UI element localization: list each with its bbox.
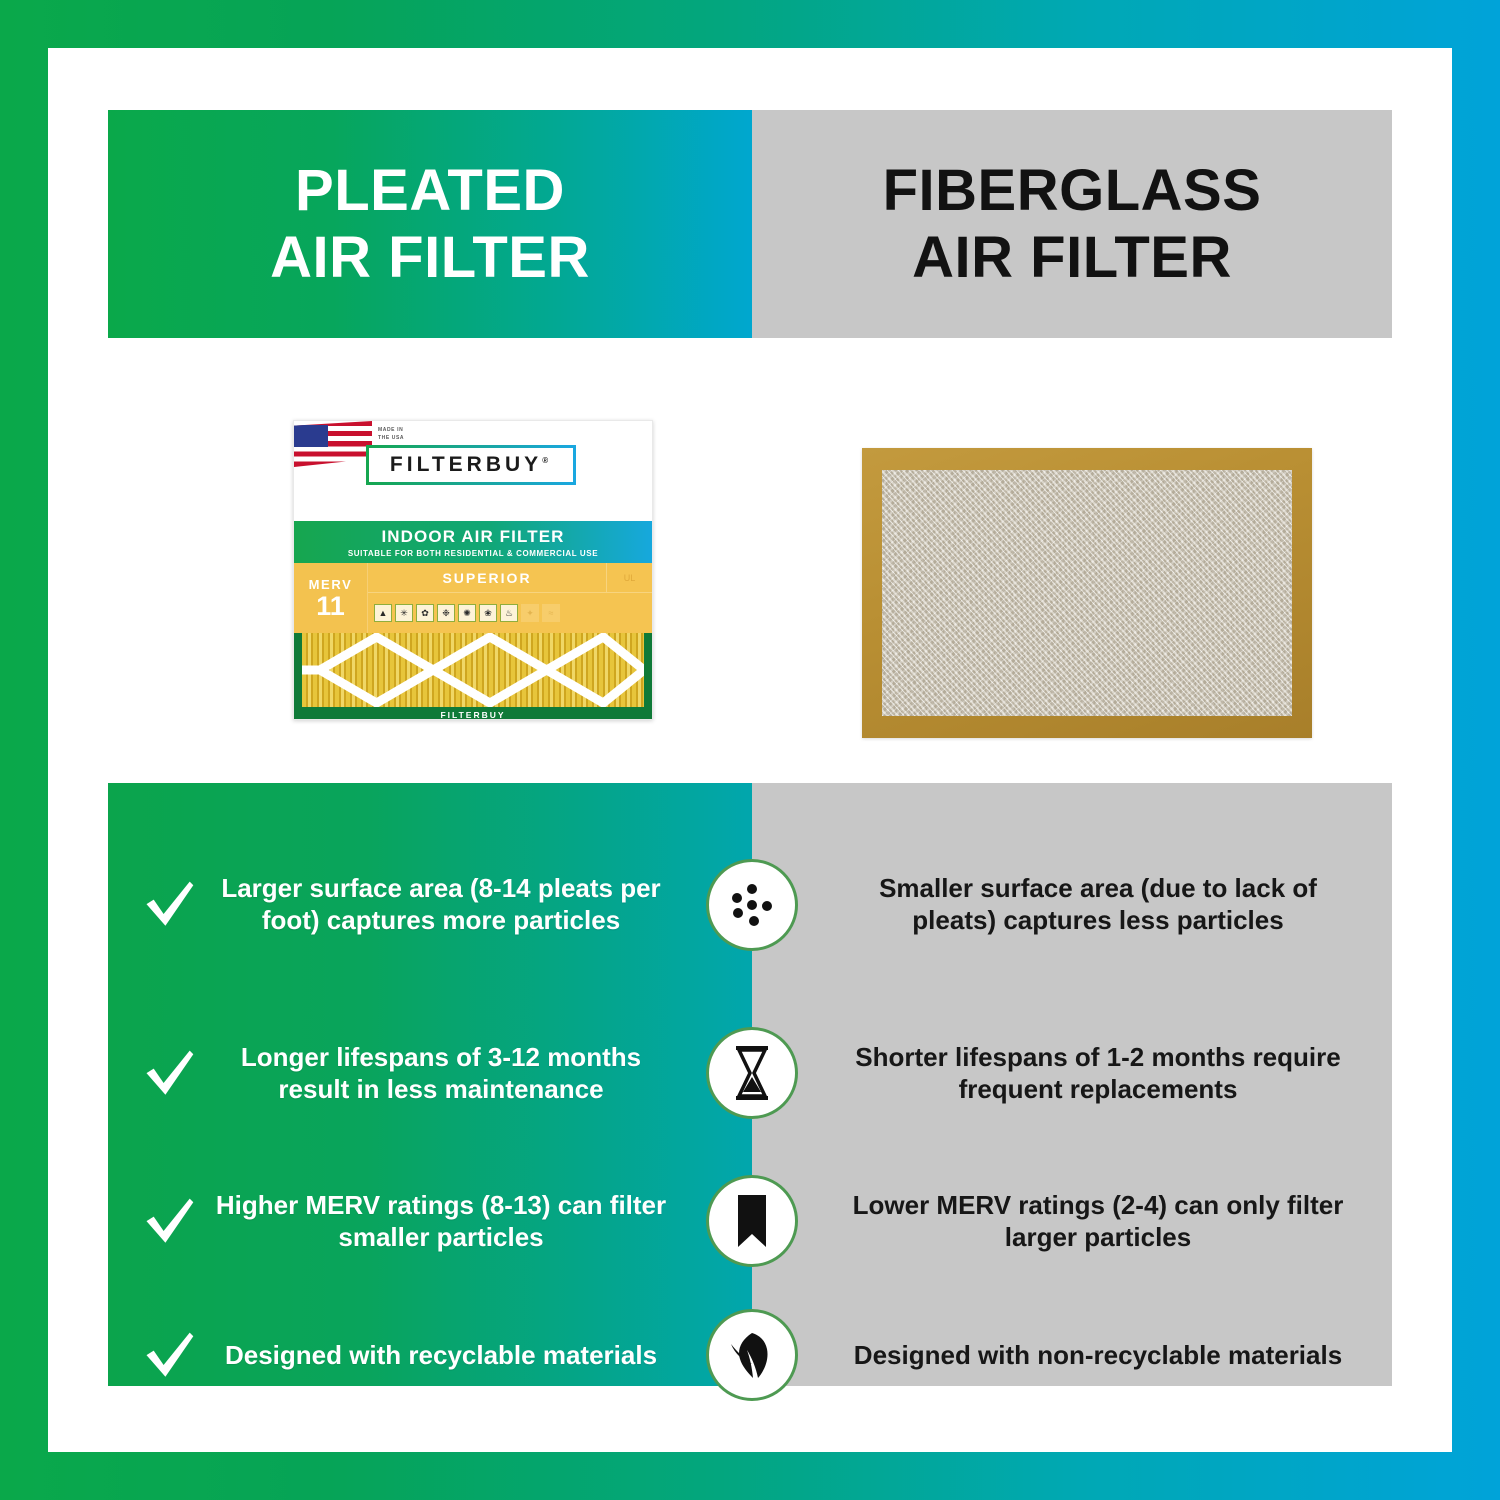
row-1-right-text: Smaller surface area (due to lack of ple…: [844, 873, 1352, 936]
pleated-media-artwork: FILTERBUY: [294, 633, 652, 720]
row-4-right-text: Designed with non-recyclable materials: [844, 1340, 1352, 1372]
usa-flag-icon: [294, 421, 372, 467]
filterbuy-logo-text: FILTERBUY®: [390, 453, 552, 477]
row-4-right: Designed with non-recyclable materials: [752, 1293, 1392, 1418]
row-1-left: Larger surface area (8-14 pleats per foo…: [108, 825, 752, 985]
smoke-icon: ♨: [500, 604, 518, 622]
odor-icon-faded: ≈: [542, 604, 560, 622]
mold-spore-icon: ❉: [437, 604, 455, 622]
box-tier-section: SUPERIOR UL ▲ ✳ ✿ ❉ ✺ ❀ ♨: [368, 563, 652, 633]
merv-badge: MERV 11: [294, 563, 368, 633]
bacteria-icon: ✺: [458, 604, 476, 622]
row-4-left: Designed with recyclable materials: [108, 1293, 752, 1418]
checkmark-icon: [140, 1195, 198, 1249]
particles-icon: [706, 859, 798, 951]
insect-icon: ✳: [395, 604, 413, 622]
dust-icon: ▲: [374, 604, 392, 622]
hourglass-icon: [706, 1027, 798, 1119]
white-diamond-lattice: [302, 633, 644, 707]
row-1-left-text: Larger surface area (8-14 pleats per foo…: [204, 873, 678, 936]
row-3-right-text: Lower MERV ratings (2-4) can only filter…: [844, 1190, 1352, 1253]
checkmark-icon: [140, 1329, 198, 1383]
pleated-filter-box-image: MADE IN THE USA FILTERBUY® INDOOR AIR FI…: [293, 420, 653, 720]
checkmark-icon: [140, 878, 198, 932]
merv-value: 11: [316, 593, 345, 620]
row-2-left: Longer lifespans of 3-12 months result i…: [108, 1011, 752, 1136]
product-image-row: MADE IN THE USA FILTERBUY® INDOOR AIR FI…: [108, 338, 1392, 778]
fiberglass-product-cell: [750, 338, 1392, 778]
row-1-right: Smaller surface area (due to lack of ple…: [752, 825, 1392, 985]
merv-label: MERV: [309, 577, 353, 592]
tier-label: SUPERIOR: [368, 563, 606, 592]
box-band-subtitle: SUITABLE FOR BOTH RESIDENTIAL & COMMERCI…: [348, 549, 598, 558]
checkmark-icon: [140, 1047, 198, 1101]
pleated-product-cell: MADE IN THE USA FILTERBUY® INDOOR AIR FI…: [108, 338, 750, 778]
box-product-band: INDOOR AIR FILTER SUITABLE FOR BOTH RESI…: [294, 521, 652, 563]
row-2-right-text: Shorter lifespans of 1-2 months require …: [844, 1042, 1352, 1105]
row-2-right: Shorter lifespans of 1-2 months require …: [752, 1011, 1392, 1136]
ul-certification-icon: UL: [606, 563, 652, 592]
row-3-right: Lower MERV ratings (2-4) can only filter…: [752, 1159, 1392, 1284]
row-3-left: Higher MERV ratings (8-13) can filter sm…: [108, 1159, 752, 1284]
infographic-sheet: PLEATED AIR FILTER FIBERGLASS AIR FILTER…: [48, 48, 1452, 1452]
feature-icon-strip: ▲ ✳ ✿ ❉ ✺ ❀ ♨ ✦ ≈: [368, 593, 652, 633]
made-in-usa-label: MADE IN THE USA: [378, 427, 404, 442]
box-band-title: INDOOR AIR FILTER: [381, 527, 564, 547]
header-band: PLEATED AIR FILTER FIBERGLASS AIR FILTER: [108, 110, 1392, 338]
fiberglass-filter-image: [862, 448, 1312, 738]
comparison-rows: Larger surface area (8-14 pleats per foo…: [108, 783, 1392, 1386]
leaf-icon: [706, 1309, 798, 1401]
header-pleated: PLEATED AIR FILTER: [108, 110, 752, 338]
gradient-border-frame: PLEATED AIR FILTER FIBERGLASS AIR FILTER…: [0, 0, 1500, 1500]
row-3-left-text: Higher MERV ratings (8-13) can filter sm…: [204, 1190, 678, 1253]
bookmark-icon: [706, 1175, 798, 1267]
box-top-section: MADE IN THE USA FILTERBUY®: [294, 421, 652, 521]
row-2-left-text: Longer lifespans of 3-12 months result i…: [204, 1042, 678, 1105]
virus-icon-faded: ✦: [521, 604, 539, 622]
box-merv-section: MERV 11 SUPERIOR UL ▲ ✳ ✿: [294, 563, 652, 633]
header-fiberglass-title: FIBERGLASS AIR FILTER: [883, 157, 1262, 292]
tier-row: SUPERIOR UL: [368, 563, 652, 593]
filterbuy-logo: FILTERBUY®: [366, 445, 576, 485]
pollen-icon: ✿: [416, 604, 434, 622]
pet-dander-icon: ❀: [479, 604, 497, 622]
header-pleated-title: PLEATED AIR FILTER: [270, 157, 590, 292]
header-fiberglass: FIBERGLASS AIR FILTER: [752, 110, 1392, 338]
box-bottom-brand: FILTERBUY: [294, 710, 652, 720]
row-4-left-text: Designed with recyclable materials: [204, 1340, 678, 1372]
